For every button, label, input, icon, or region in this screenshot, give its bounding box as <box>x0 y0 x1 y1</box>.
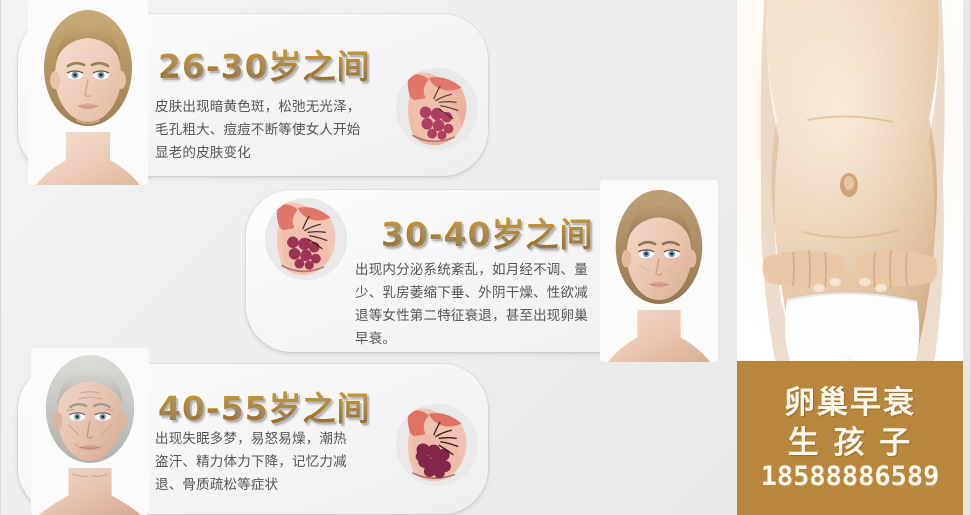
illustration-ovary-1 <box>396 68 478 150</box>
panel-3-body-line: 出现失眠多梦，易怒易燥，潮热 <box>155 428 395 451</box>
banner-headline-line-2: 生 孩 子 <box>737 417 963 462</box>
portrait-elderly-woman <box>30 348 150 515</box>
portrait-young-woman <box>28 0 148 185</box>
panel-1-body-line: 毛孔粗大、痘痘不断等使女人开始 <box>155 119 395 142</box>
banner-headline-line-1: 卵巢早衰 <box>737 377 963 422</box>
panel-3-title: 40-55岁之间 <box>158 382 371 430</box>
portrait-middle-aged-woman <box>600 180 718 362</box>
poster-canvas: 26-30岁之间 26-30岁之间 皮肤出现暗黄色斑，松弛无光泽， 毛孔粗大、痘… <box>0 0 971 515</box>
illustration-ovary-3 <box>396 404 478 486</box>
panel-2-body: 出现内分泌系统紊乱，如月经不调、量 少、乳房萎缩下垂、外阴干燥、性欲减 退等女性… <box>355 259 605 351</box>
sidebar-abdomen-photo <box>737 0 963 370</box>
panel-2-body-line: 早衰。 <box>355 328 605 351</box>
panel-2-body-line: 退等女性第二特征衰退，甚至出现卵巢 <box>355 305 605 328</box>
panel-2-body-line: 少、乳房萎缩下垂、外阴干燥、性欲减 <box>355 282 605 305</box>
panel-3-body: 出现失眠多梦，易怒易燥，潮热 盗汗、精力体力下降，记忆力减 退、骨质疏松等症状 <box>155 428 395 497</box>
illustration-ovary-2 <box>265 198 347 280</box>
panel-1-title: 26-30岁之间 <box>158 40 371 88</box>
panel-2-title: 30-40岁之间 <box>381 208 594 256</box>
panel-1-body: 皮肤出现暗黄色斑，松弛无光泽， 毛孔粗大、痘痘不断等使女人开始 显老的皮肤变化 <box>155 96 395 165</box>
panel-3-body-line: 盗汗、精力体力下降，记忆力减 <box>155 451 395 474</box>
banner-phone-number[interactable]: 18588886589 <box>737 461 963 492</box>
panel-2-body-line: 出现内分泌系统紊乱，如月经不调、量 <box>355 259 605 282</box>
sidebar-gold-banner: 卵巢早衰 生 孩 子 18588886589 <box>737 361 963 515</box>
panel-3-body-line: 退、骨质疏松等症状 <box>155 474 395 497</box>
panel-1-body-line: 皮肤出现暗黄色斑，松弛无光泽， <box>155 96 395 119</box>
panel-1-body-line: 显老的皮肤变化 <box>155 142 395 165</box>
